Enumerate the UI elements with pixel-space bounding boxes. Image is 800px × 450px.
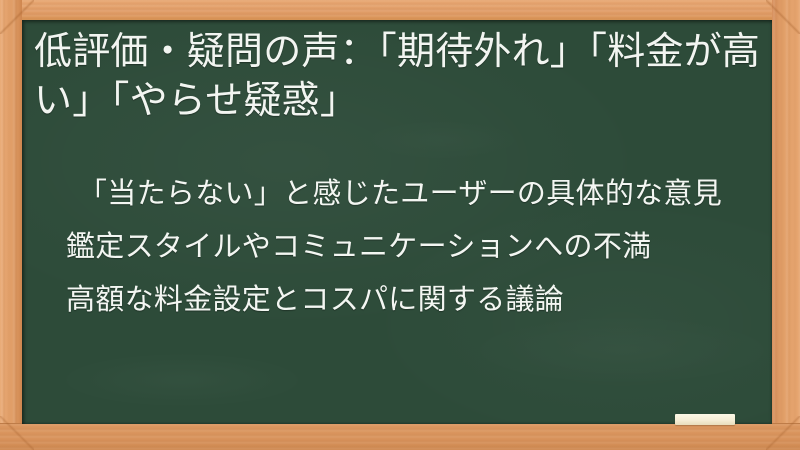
- bullet-item-3: 高額な料金設定とコスパに関する議論: [58, 274, 758, 327]
- chalkboard-surface: 低評価・疑問の声：「期待外れ」「料金が高い」「やらせ疑惑」 「当たらない」と感じ…: [22, 20, 772, 424]
- frame-rail-bottom-chalk-tray: [0, 423, 800, 450]
- slide-bullet-list: 「当たらない」と感じたユーザーの具体的な意見 鑑定スタイルやコミュニケーションへ…: [58, 168, 758, 327]
- chalk-stick: [675, 414, 735, 425]
- bullet-item-1: 「当たらない」と感じたユーザーの具体的な意見: [58, 168, 758, 221]
- chalkboard-slide: 低評価・疑問の声：「期待外れ」「料金が高い」「やらせ疑惑」 「当たらない」と感じ…: [0, 0, 800, 450]
- frame-stile-left: [0, 0, 22, 450]
- frame-rail-top: [0, 0, 800, 22]
- bullet-item-2: 鑑定スタイルやコミュニケーションへの不満: [58, 221, 758, 274]
- frame-stile-right: [772, 0, 800, 450]
- slide-title: 低評価・疑問の声：「期待外れ」「料金が高い」「やらせ疑惑」: [34, 28, 760, 125]
